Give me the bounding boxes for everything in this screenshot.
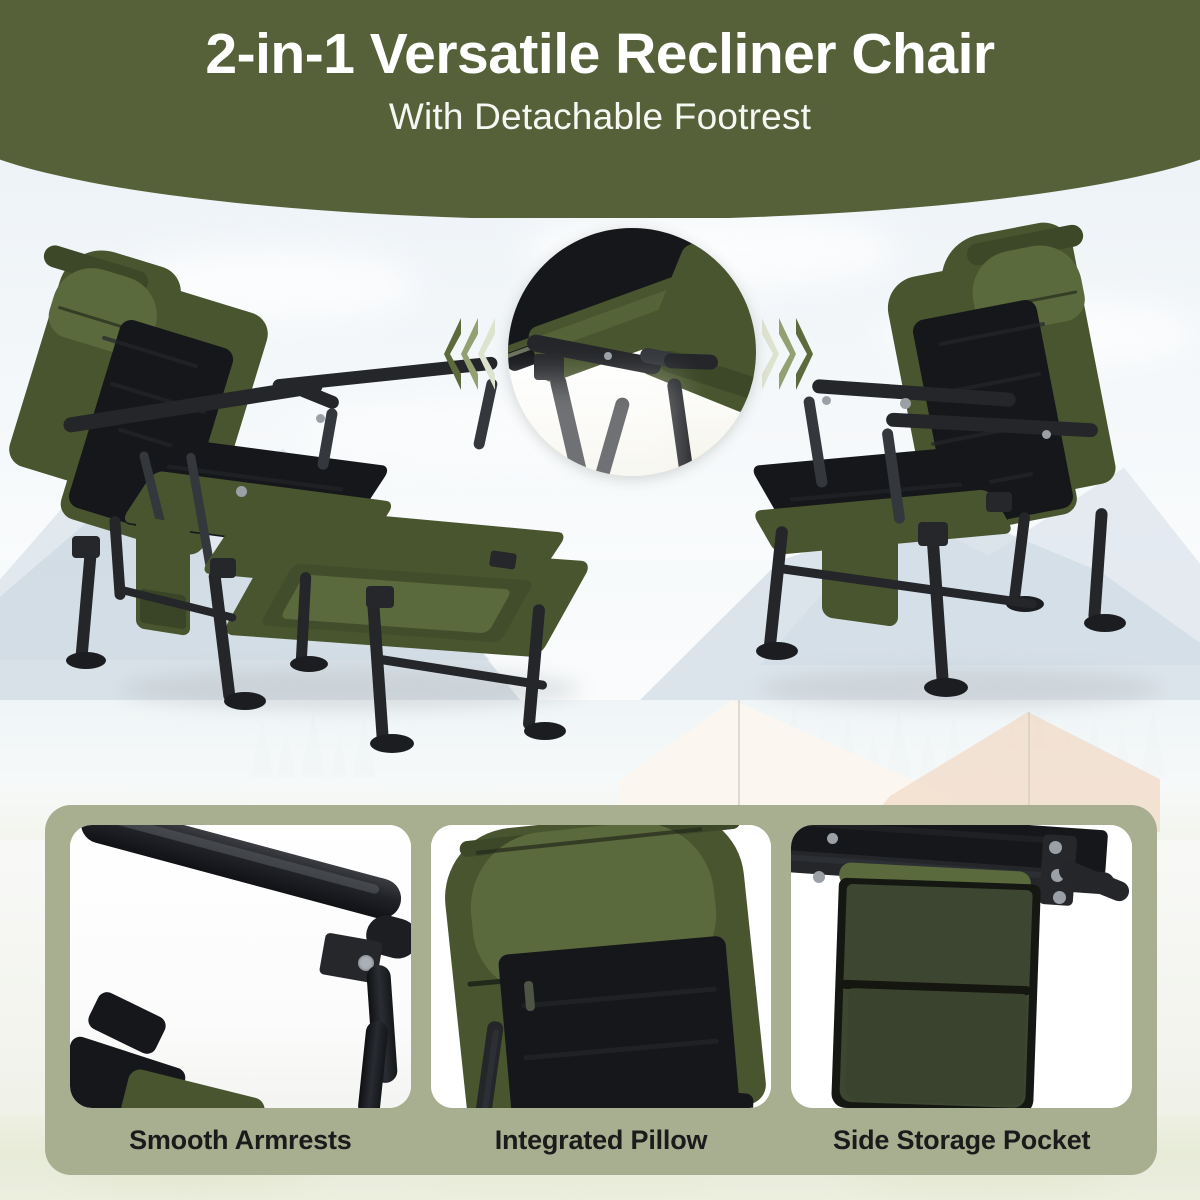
chair-foot [224,692,266,710]
feature-card-smooth-armrests[interactable] [70,825,411,1108]
chair-foot [1084,614,1126,632]
chair-foot [66,652,106,669]
feature-captions: Smooth Armrests Integrated Pillow Side S… [70,1117,1132,1163]
header-banner: 2-in-1 Versatile Recliner Chair With Det… [0,0,1200,218]
caption-smooth-armrests: Smooth Armrests [70,1117,411,1163]
feature-card-side-storage-pocket[interactable] [791,825,1132,1108]
feature-panel: Smooth Armrests Integrated Pillow Side S… [45,805,1157,1175]
right-product-image [700,200,1200,820]
feature-card-integrated-pillow[interactable] [431,825,772,1108]
chevron-left-triple-icon [444,318,495,390]
chair-foot [924,678,968,697]
infographic-page: Smooth Armrests Integrated Pillow Side S… [0,0,1200,1200]
footrest-connector-closeup [508,228,756,476]
chair-foot [370,734,414,753]
caption-integrated-pillow: Integrated Pillow [431,1117,772,1163]
chair-foot [524,722,566,740]
feature-cards [70,825,1132,1108]
chair-foot [756,642,798,660]
caption-side-storage-pocket: Side Storage Pocket [791,1117,1132,1163]
chevron-right-triple-icon [762,318,813,390]
page-title: 2-in-1 Versatile Recliner Chair [0,24,1200,86]
page-subtitle: With Detachable Footrest [0,97,1200,138]
